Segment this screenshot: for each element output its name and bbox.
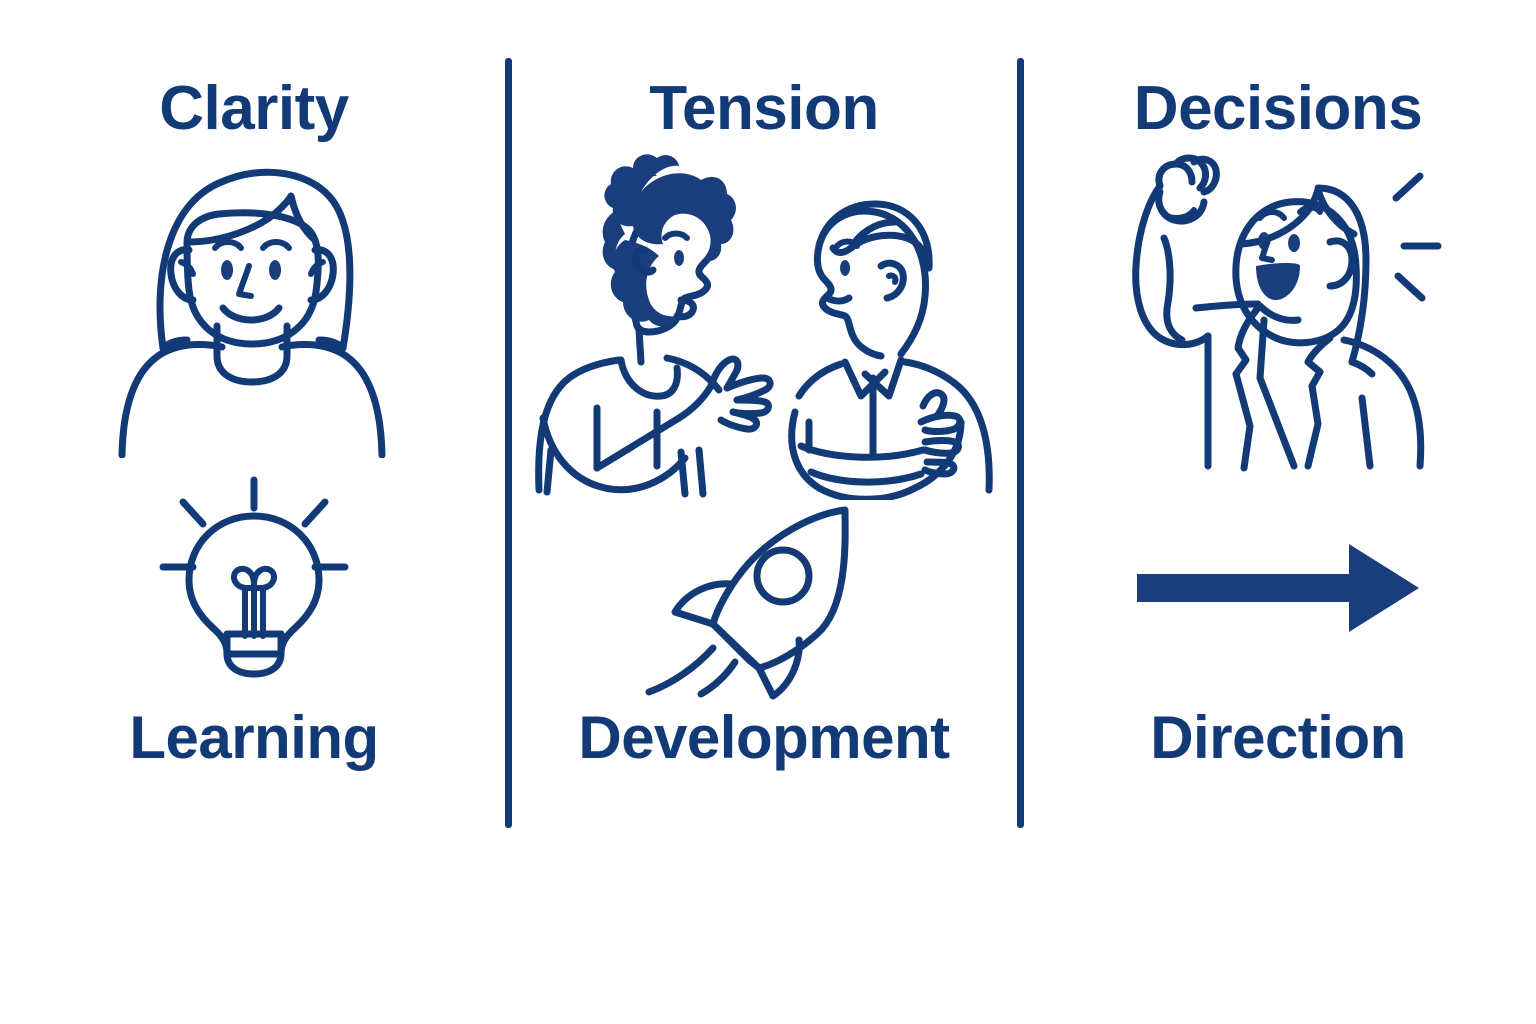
column-clarity: Clarity — [0, 0, 508, 860]
column-tension: Tension — [508, 0, 1020, 860]
column-title-clarity: Clarity — [159, 78, 348, 140]
column-title-tension: Tension — [649, 78, 879, 140]
poster-canvas: Clarity — [0, 0, 1536, 1024]
clarity-art-stack — [109, 140, 399, 680]
person-celebrating-raised-fist-illustration — [1108, 148, 1448, 478]
column-footer-direction: Direction — [1020, 708, 1536, 768]
decisions-art-stack — [1108, 140, 1448, 638]
column-decisions: Decisions — [1020, 0, 1536, 860]
person-smiling-bob-hair-illustration — [109, 158, 399, 458]
rocket-icon — [639, 500, 889, 710]
column-title-decisions: Decisions — [1134, 78, 1422, 140]
column-footer-learning: Learning — [0, 708, 508, 768]
column-footer-development: Development — [508, 708, 1020, 768]
lightbulb-icon — [139, 470, 369, 680]
columns-container: Clarity — [0, 0, 1536, 860]
arrow-right-icon — [1133, 538, 1423, 638]
tension-art-stack — [529, 140, 999, 710]
two-people-conversation-illustration — [529, 150, 999, 500]
